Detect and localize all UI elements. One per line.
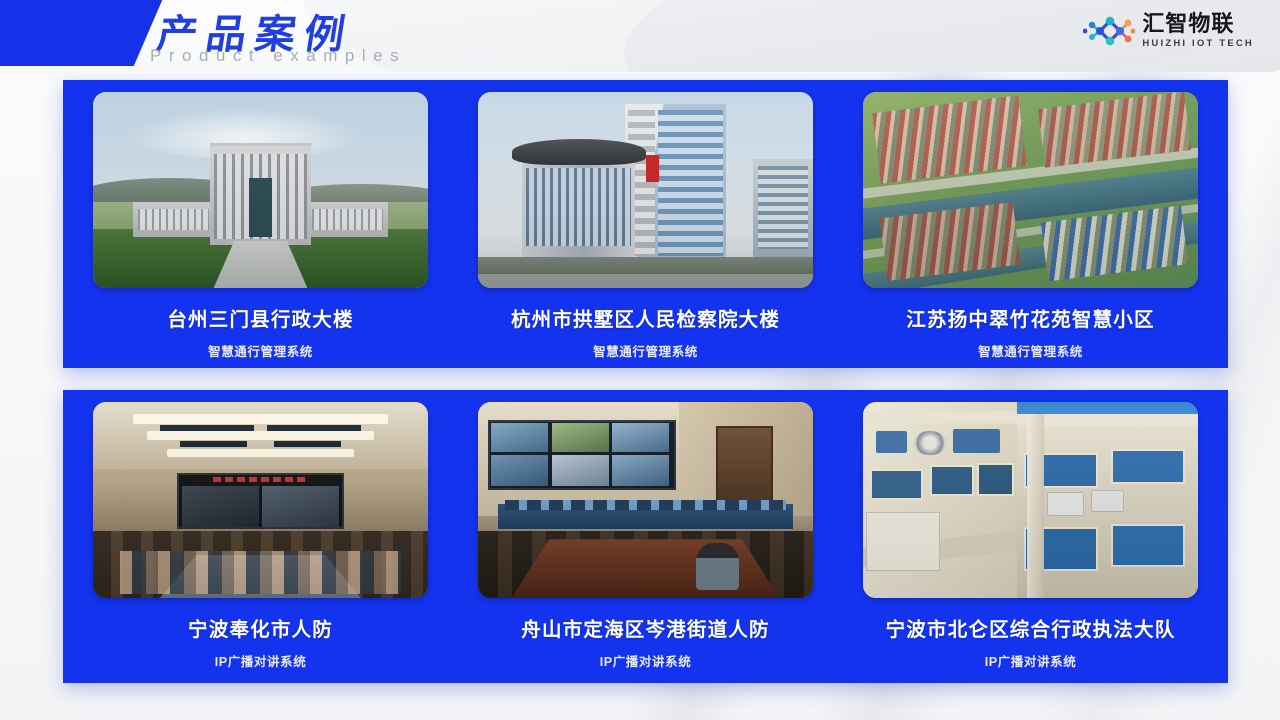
case-card[interactable]: 杭州市拱墅区人民检察院大楼 智慧通行管理系统	[478, 92, 813, 368]
hangzhou-gongshu-procuratorate-building-photo[interactable]	[478, 92, 813, 288]
case-card[interactable]: 宁波市北仑区综合行政执法大队 IP广播对讲系统	[863, 402, 1198, 683]
case-card[interactable]: 台州三门县行政大楼 智慧通行管理系统	[93, 92, 428, 368]
case-panel-row-1: 台州三门县行政大楼 智慧通行管理系统 杭州市拱墅区人民检察院大楼 智慧通行管理系…	[63, 80, 1228, 368]
case-card-title: 台州三门县行政大楼	[167, 303, 353, 332]
header-accent-band	[0, 0, 164, 66]
logo-name-cn: 汇智物联	[1142, 13, 1254, 35]
case-card-title: 舟山市定海区岑港街道人防	[521, 613, 769, 642]
case-card-subtitle: IP广播对讲系统	[600, 651, 692, 670]
brand-logo: 汇智物联 HUIZHI IOT TECH	[1083, 12, 1254, 50]
ningbo-fenghua-civil-defense-control-room-photo[interactable]	[93, 402, 428, 598]
case-card-subtitle: 智慧通行管理系统	[978, 341, 1083, 360]
case-card-row: 宁波奉化市人防 IP广播对讲系统 舟山市定海区岑港街道人防 IP广播对讲系统	[63, 390, 1228, 683]
page-subtitle: Product examples	[150, 46, 406, 66]
case-card-title: 江苏扬中翠竹花苑智慧小区	[906, 303, 1154, 332]
case-card-title: 宁波奉化市人防	[188, 613, 333, 642]
case-card-subtitle: 智慧通行管理系统	[208, 341, 313, 360]
case-card-subtitle: IP广播对讲系统	[985, 651, 1077, 670]
case-card-title: 杭州市拱墅区人民检察院大楼	[511, 303, 780, 332]
case-panel-row-2: 宁波奉化市人防 IP广播对讲系统 舟山市定海区岑港街道人防 IP广播对讲系统	[63, 390, 1228, 683]
case-card[interactable]: 舟山市定海区岑港街道人防 IP广播对讲系统	[478, 402, 813, 683]
ningbo-beilun-law-enforcement-building-photo[interactable]	[863, 402, 1198, 598]
case-card[interactable]: 江苏扬中翠竹花苑智慧小区 智慧通行管理系统	[863, 92, 1198, 368]
case-card-subtitle: 智慧通行管理系统	[593, 341, 698, 360]
zhoushan-dinghai-cengang-monitoring-hall-photo[interactable]	[478, 402, 813, 598]
molecule-network-icon	[1083, 12, 1135, 50]
case-card[interactable]: 宁波奉化市人防 IP广播对讲系统	[93, 402, 428, 683]
logo-name-en: HUIZHI IOT TECH	[1142, 39, 1254, 49]
case-card-subtitle: IP广播对讲系统	[215, 651, 307, 670]
jiangsu-yangzhong-cuizhu-huayuan-aerial-photo[interactable]	[863, 92, 1198, 288]
taizhou-sanmen-administrative-building-photo[interactable]	[93, 92, 428, 288]
case-card-title: 宁波市北仑区综合行政执法大队	[886, 613, 1176, 642]
case-card-row: 台州三门县行政大楼 智慧通行管理系统 杭州市拱墅区人民检察院大楼 智慧通行管理系…	[63, 80, 1228, 368]
